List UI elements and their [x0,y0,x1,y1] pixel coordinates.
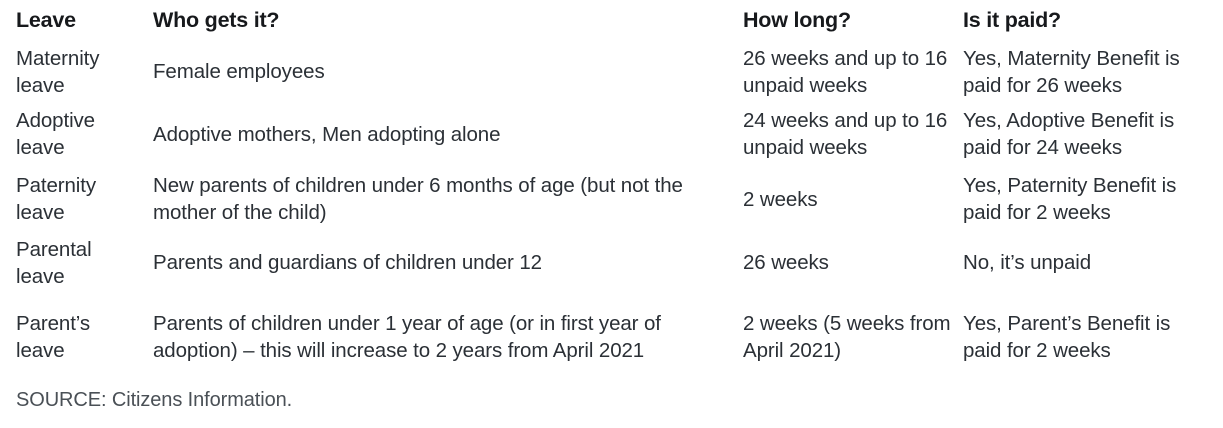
source-attribution: SOURCE: Citizens Information. [16,388,1207,412]
cell-who-gets-it: Female employees [151,42,740,102]
cell-how-long: 2 weeks (5 weeks from April 2021) [740,294,959,381]
leave-entitlements-table: Leave Who gets it? How long? Is it paid?… [16,0,1207,381]
cell-is-it-paid: No, it’s unpaid [959,232,1207,294]
cell-leave-type: Maternity leave [16,42,151,102]
table-header: Leave Who gets it? How long? Is it paid? [16,0,1207,42]
cell-how-long: 26 weeks and up to 16 unpaid weeks [740,42,959,102]
cell-how-long: 2 weeks [740,167,959,232]
table-row: Parent’s leave Parents of children under… [16,294,1207,381]
column-header-who-gets-it: Who gets it? [151,0,740,42]
table-row: Adoptive leave Adoptive mothers, Men ado… [16,102,1207,167]
cell-leave-type: Paternity leave [16,167,151,232]
cell-is-it-paid: Yes, Parent’s Benefit is paid for 2 week… [959,294,1207,381]
cell-is-it-paid: Yes, Adoptive Benefit is paid for 24 wee… [959,102,1207,167]
table-header-row: Leave Who gets it? How long? Is it paid? [16,0,1207,42]
cell-who-gets-it: Parents of children under 1 year of age … [151,294,740,381]
cell-who-gets-it: New parents of children under 6 months o… [151,167,740,232]
cell-how-long: 24 weeks and up to 16 unpaid weeks [740,102,959,167]
table-row: Maternity leave Female employees 26 week… [16,42,1207,102]
table-row: Paternity leave New parents of children … [16,167,1207,232]
column-header-leave: Leave [16,0,151,42]
cell-leave-type: Adoptive leave [16,102,151,167]
cell-leave-type: Parent’s leave [16,294,151,381]
leave-entitlements-table-graphic: Leave Who gets it? How long? Is it paid?… [0,0,1223,428]
column-header-is-it-paid: Is it paid? [959,0,1207,42]
cell-who-gets-it: Adoptive mothers, Men adopting alone [151,102,740,167]
cell-is-it-paid: Yes, Maternity Benefit is paid for 26 we… [959,42,1207,102]
column-header-how-long: How long? [740,0,959,42]
cell-how-long: 26 weeks [740,232,959,294]
cell-leave-type: Parental leave [16,232,151,294]
cell-is-it-paid: Yes, Paternity Benefit is paid for 2 wee… [959,167,1207,232]
table-body: Maternity leave Female employees 26 week… [16,42,1207,381]
cell-who-gets-it: Parents and guardians of children under … [151,232,740,294]
table-row: Parental leave Parents and guardians of … [16,232,1207,294]
